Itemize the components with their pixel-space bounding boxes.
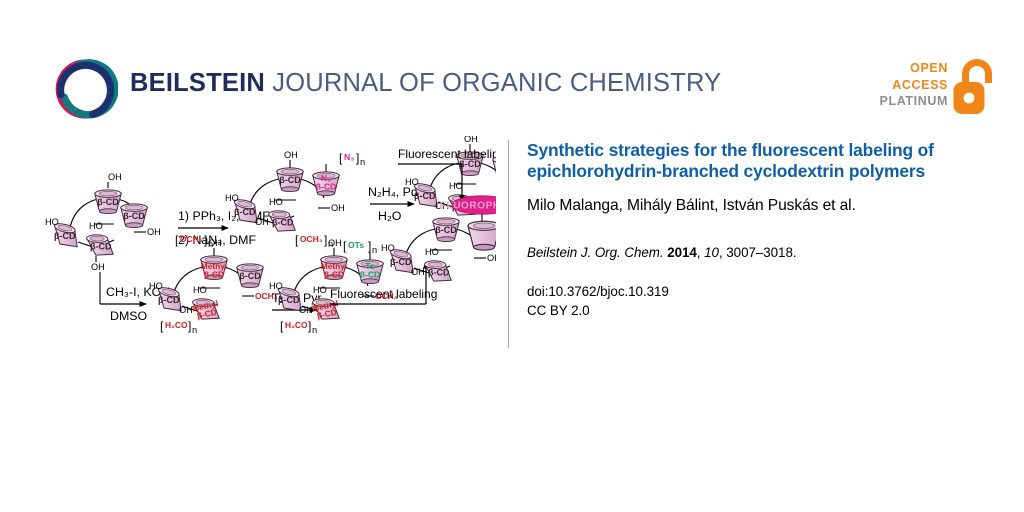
article-citation: Beilstein J. Org. Chem. 2014, 10, 3007–3…: [527, 245, 959, 260]
svg-text:β-CD: β-CD: [390, 257, 412, 267]
article-title[interactable]: Synthetic strategies for the fluorescent…: [527, 140, 959, 181]
svg-text:]: ]: [204, 233, 207, 247]
svg-text:OH: OH: [147, 227, 161, 237]
citation-volume: 10: [704, 245, 719, 260]
svg-text:HO: HO: [225, 193, 239, 203]
article-doi[interactable]: doi:10.3762/bjoc.10.319: [527, 282, 959, 301]
svg-text:β-CD: β-CD: [324, 270, 344, 280]
svg-text:n: n: [372, 245, 377, 255]
svg-text:β-CD: β-CD: [278, 295, 300, 305]
beilstein-triple-arc-logo-icon[interactable]: [52, 56, 118, 122]
svg-text:β-CD: β-CD: [428, 268, 450, 278]
svg-text:HO: HO: [45, 217, 59, 227]
svg-text:HO: HO: [313, 285, 327, 295]
svg-text:n: n: [328, 239, 333, 249]
open-access-text: OPEN ACCESS PLATINUM: [880, 60, 948, 110]
vertical-divider: [508, 140, 509, 348]
svg-text:N₃: N₃: [344, 152, 354, 162]
svg-text:HO: HO: [381, 243, 395, 253]
svg-text:OH: OH: [255, 217, 269, 227]
svg-text:HO: HO: [449, 181, 463, 191]
svg-text:β-CD: β-CD: [414, 191, 436, 201]
open-access-line3: PLATINUM: [880, 93, 948, 110]
svg-text:OH: OH: [487, 253, 496, 263]
svg-text:]: ]: [368, 239, 371, 253]
svg-text:n: n: [192, 325, 197, 335]
svg-text:[: [: [160, 319, 164, 333]
svg-text:β-CD: β-CD: [279, 175, 301, 185]
svg-text:OH: OH: [179, 305, 193, 315]
svg-text:OCH₃: OCH₃: [300, 234, 323, 244]
svg-text:H₂O: H₂O: [378, 209, 402, 223]
svg-text:OCH₃: OCH₃: [180, 234, 203, 244]
svg-text:OH: OH: [331, 203, 345, 213]
svg-text:β-CD: β-CD: [234, 207, 256, 217]
svg-text:H₃CO: H₃CO: [165, 320, 188, 330]
svg-text:HO: HO: [269, 197, 283, 207]
svg-text:[: [: [280, 319, 284, 333]
svg-text:HO: HO: [425, 247, 439, 257]
svg-text:Fluorescent labeling: Fluorescent labeling: [398, 147, 496, 161]
svg-text:OTs: OTs: [348, 240, 364, 250]
svg-text:n: n: [208, 239, 213, 249]
svg-text:OH: OH: [411, 267, 425, 277]
svg-text:OH: OH: [108, 172, 122, 182]
svg-text:HO: HO: [193, 285, 207, 295]
svg-text:β-CD: β-CD: [435, 225, 457, 235]
svg-text:β-CD: β-CD: [204, 270, 224, 280]
article-license[interactable]: CC BY 2.0: [527, 301, 959, 320]
structure-tosylated: Methyl β-CD Methyl β-CD Ts β-CD β-CD OH …: [269, 233, 398, 335]
wordmark-bold: BEILSTEIN: [130, 69, 265, 97]
svg-text:HO: HO: [269, 281, 283, 291]
svg-text:β-CD: β-CD: [239, 271, 261, 281]
journal-wordmark: BEILSTEIN JOURNAL OF ORGANIC CHEMISTRY: [130, 71, 721, 97]
structure-start: β-CD β-CD β-CD β-CD OH HO HO OH OH: [45, 172, 161, 272]
graphical-abstract[interactable]: β-CD β-CD β-CD β-CD OH HO HO OH OH 1) PP…: [34, 136, 496, 336]
svg-text:[: [: [339, 151, 343, 165]
open-access-line1: OPEN: [880, 60, 948, 77]
wordmark-light: JOURNAL OF ORGANIC CHEMISTRY: [265, 69, 721, 97]
svg-text:β-CD: β-CD: [272, 218, 294, 228]
svg-text:FLUOROPHORE: FLUOROPHORE: [440, 200, 496, 211]
svg-text:]: ]: [324, 233, 327, 247]
svg-text:β-CD: β-CD: [316, 182, 337, 192]
svg-text:β-CD: β-CD: [123, 211, 145, 221]
svg-text:n: n: [360, 157, 365, 167]
svg-text:]: ]: [356, 151, 359, 165]
svg-text:DMSO: DMSO: [110, 309, 148, 323]
svg-text:OH: OH: [284, 150, 298, 160]
svg-text:[: [: [295, 233, 299, 247]
svg-text:β-CD: β-CD: [360, 270, 381, 280]
svg-text:β-CD: β-CD: [90, 242, 112, 252]
open-padlock-icon: [952, 58, 996, 116]
open-access-line2: ACCESS: [880, 77, 948, 94]
svg-text:OH: OH: [91, 262, 105, 272]
structure-methylated: Methyl β-CD Methyl β-CD β-CD β-CD OH HO …: [149, 233, 278, 335]
svg-text:HO: HO: [89, 221, 103, 231]
svg-text:[: [: [343, 239, 347, 253]
article-info-panel: Synthetic strategies for the fluorescent…: [527, 140, 959, 320]
svg-text:β-CD: β-CD: [158, 295, 180, 305]
svg-text:H₃CO: H₃CO: [285, 320, 308, 330]
citation-year: 2014: [667, 245, 697, 260]
citation-pages: 3007–3018.: [726, 245, 796, 260]
svg-text:]: ]: [308, 319, 311, 333]
svg-text:OH: OH: [299, 305, 313, 315]
svg-text:β-CD: β-CD: [54, 231, 76, 241]
journal-masthead: BEILSTEIN JOURNAL OF ORGANIC CHEMISTRY O…: [0, 0, 1024, 132]
svg-text:]: ]: [188, 319, 191, 333]
svg-text:n: n: [312, 325, 317, 335]
citation-journal: Beilstein J. Org. Chem.: [527, 245, 664, 260]
svg-text:HO: HO: [149, 281, 163, 291]
svg-text:OH: OH: [464, 136, 478, 144]
open-access-badge[interactable]: OPEN ACCESS PLATINUM: [856, 58, 996, 120]
svg-text:HO: HO: [405, 177, 419, 187]
svg-text:Fluorescent labeling: Fluorescent labeling: [330, 287, 437, 301]
article-authors: Milo Malanga, Mihály Bálint, István Pusk…: [527, 196, 959, 215]
svg-text:β-CD: β-CD: [97, 197, 119, 207]
